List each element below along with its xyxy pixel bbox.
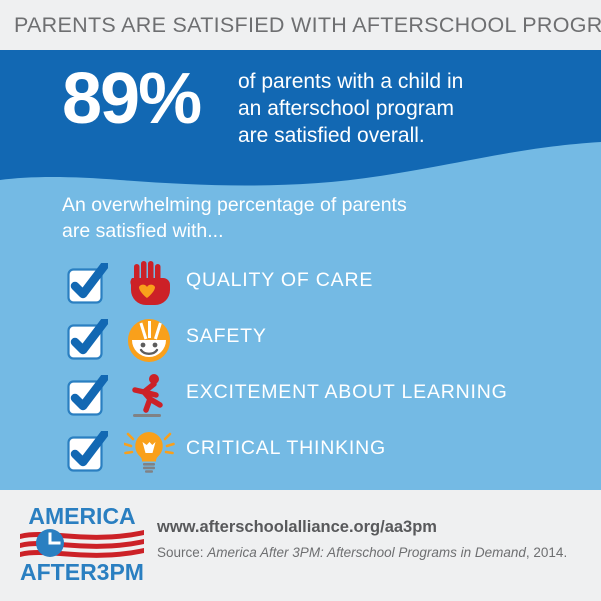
hero-description: of parents with a child in an afterschoo… [238, 68, 463, 149]
list-item[interactable]: SAFETY [0, 316, 601, 372]
subheading-line-1: An overwhelming percentage of parents [62, 192, 407, 218]
hero-line-3: are satisfied overall. [238, 122, 463, 149]
list-item[interactable]: CRITICAL THINKING [0, 428, 601, 484]
hero-percentage: 89% [62, 63, 200, 135]
running-person-icon [124, 372, 176, 420]
america-after3pm-logo[interactable]: AMERICA AFTER3PM [18, 502, 146, 584]
main-blue-panel: 89% of parents with a child in an afters… [0, 50, 601, 490]
hero-line-2: an afterschool program [238, 95, 463, 122]
title-bar: PARENTS ARE SATISFIED WITH AFTERSCHOOL P… [0, 0, 601, 50]
helmet-smiley-icon [124, 316, 176, 364]
lightbulb-icon [124, 428, 176, 476]
source-suffix: , 2014. [526, 545, 567, 560]
list-item-label: QUALITY OF CARE [186, 269, 373, 292]
list-item[interactable]: QUALITY OF CARE [0, 260, 601, 316]
page-title: PARENTS ARE SATISFIED WITH AFTERSCHOOL P… [14, 13, 601, 38]
source-title: America After 3PM: Afterschool Programs … [207, 545, 526, 560]
logo-line-1: AMERICA [28, 503, 135, 529]
hero-statistic-block: 89% of parents with a child in an afters… [0, 50, 601, 185]
list-item-label: EXCITEMENT ABOUT LEARNING [186, 381, 508, 404]
logo-line-2: AFTER3PM [20, 559, 144, 584]
subheading: An overwhelming percentage of parents ar… [62, 192, 407, 244]
checkbox-checked-icon[interactable] [66, 263, 108, 305]
checkbox-checked-icon[interactable] [66, 375, 108, 417]
checkbox-checked-icon[interactable] [66, 431, 108, 473]
list-item[interactable]: EXCITEMENT ABOUT LEARNING [0, 372, 601, 428]
infographic-root: PARENTS ARE SATISFIED WITH AFTERSCHOOL P… [0, 0, 601, 601]
footer: AMERICA AFTER3PM www.afterschoolalliance… [0, 490, 601, 601]
list-item-label: SAFETY [186, 325, 267, 348]
satisfaction-checklist: QUALITY OF CARE [0, 260, 601, 484]
hand-heart-icon [124, 260, 176, 308]
source-prefix: Source: [157, 545, 207, 560]
checkbox-checked-icon[interactable] [66, 319, 108, 361]
hero-line-1: of parents with a child in [238, 68, 463, 95]
subheading-line-2: are satisfied with... [62, 218, 407, 244]
source-citation: Source: America After 3PM: Afterschool P… [157, 545, 567, 560]
website-url[interactable]: www.afterschoolalliance.org/aa3pm [157, 518, 437, 537]
list-item-label: CRITICAL THINKING [186, 437, 386, 460]
